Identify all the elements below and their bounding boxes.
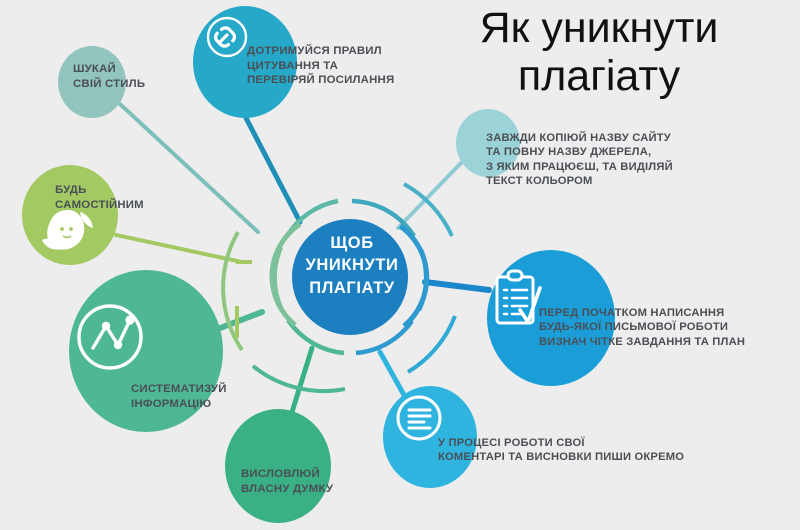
connector-independent [116, 235, 242, 262]
infographic-canvas: Як уникнути плагіату ЩОБ УНИКНУТИ ПЛАГІА… [0, 0, 800, 530]
connector-style [120, 104, 258, 232]
ring-outer-sweep-bot [253, 366, 345, 391]
connector-comments [380, 352, 404, 395]
ring-outer-sweep-right [408, 316, 455, 372]
node-circle-style[interactable] [58, 46, 126, 118]
connector-opinion [292, 348, 312, 412]
connector-plan [425, 282, 489, 290]
connector-cite [246, 118, 300, 222]
node-circle-plan[interactable] [487, 250, 615, 386]
center-circle[interactable] [292, 219, 408, 335]
node-circle-copy[interactable] [456, 109, 520, 177]
node-circle-systemize[interactable] [69, 270, 223, 432]
node-circle-opinion[interactable] [225, 409, 331, 523]
connector-copy [398, 162, 462, 228]
node-circle-cite[interactable] [193, 6, 297, 118]
page-title: Як уникнути плагіату [414, 4, 784, 100]
ring-outer-sweep-left [223, 232, 242, 350]
